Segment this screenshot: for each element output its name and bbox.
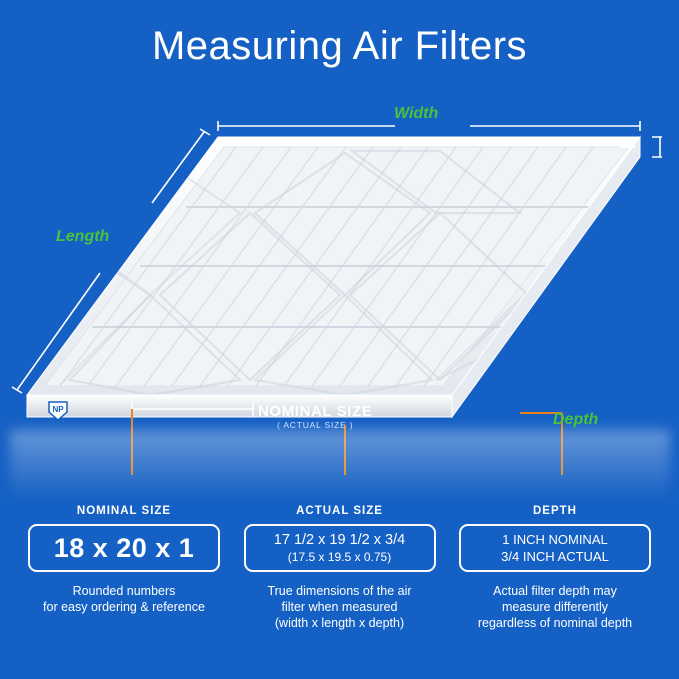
card-caption: Actual filter depth may measure differen… <box>478 583 632 631</box>
actual-size-sublabel: ( ACTUAL SIZE ) <box>277 420 353 430</box>
card-value-line1: 17 1/2 x 19 1/2 x 3/4 <box>274 532 405 548</box>
width-label: Width <box>394 105 438 123</box>
card-caption: True dimensions of the air filter when m… <box>267 583 411 631</box>
card-title: DEPTH <box>533 505 577 517</box>
card-value-box: 17 1/2 x 19 1/2 x 3/4 (17.5 x 19.5 x 0.7… <box>244 524 436 572</box>
page-title: Measuring Air Filters <box>0 24 679 69</box>
depth-label: Depth <box>553 411 598 429</box>
info-cards: NOMINAL SIZE 18 x 20 x 1 Rounded numbers… <box>0 505 679 631</box>
card-depth: DEPTH 1 INCH NOMINAL 3/4 INCH ACTUAL Act… <box>459 505 651 631</box>
card-actual-size: ACTUAL SIZE 17 1/2 x 19 1/2 x 3/4 (17.5 … <box>244 505 436 631</box>
card-value-line1: 1 INCH NOMINAL <box>502 532 607 547</box>
brand-logo-icon: NP <box>47 400 81 422</box>
card-caption: Rounded numbers for easy ordering & refe… <box>43 583 205 615</box>
diagram-page: Measuring Air Filters <box>0 0 679 679</box>
card-nominal-size: NOMINAL SIZE 18 x 20 x 1 Rounded numbers… <box>28 505 220 631</box>
card-value-line2: (17.5 x 19.5 x 0.75) <box>288 550 391 564</box>
card-title: ACTUAL SIZE <box>296 505 383 517</box>
card-value-line2: 3/4 INCH ACTUAL <box>501 549 609 564</box>
card-title: NOMINAL SIZE <box>77 505 171 517</box>
nominal-size-label: NOMINAL SIZE <box>258 403 372 420</box>
card-value-box: 1 INCH NOMINAL 3/4 INCH ACTUAL <box>459 524 651 572</box>
logo-text: NP <box>52 405 64 414</box>
length-label: Length <box>56 228 109 246</box>
card-value-line1: 18 x 20 x 1 <box>54 533 195 564</box>
card-value-box: 18 x 20 x 1 <box>28 524 220 572</box>
